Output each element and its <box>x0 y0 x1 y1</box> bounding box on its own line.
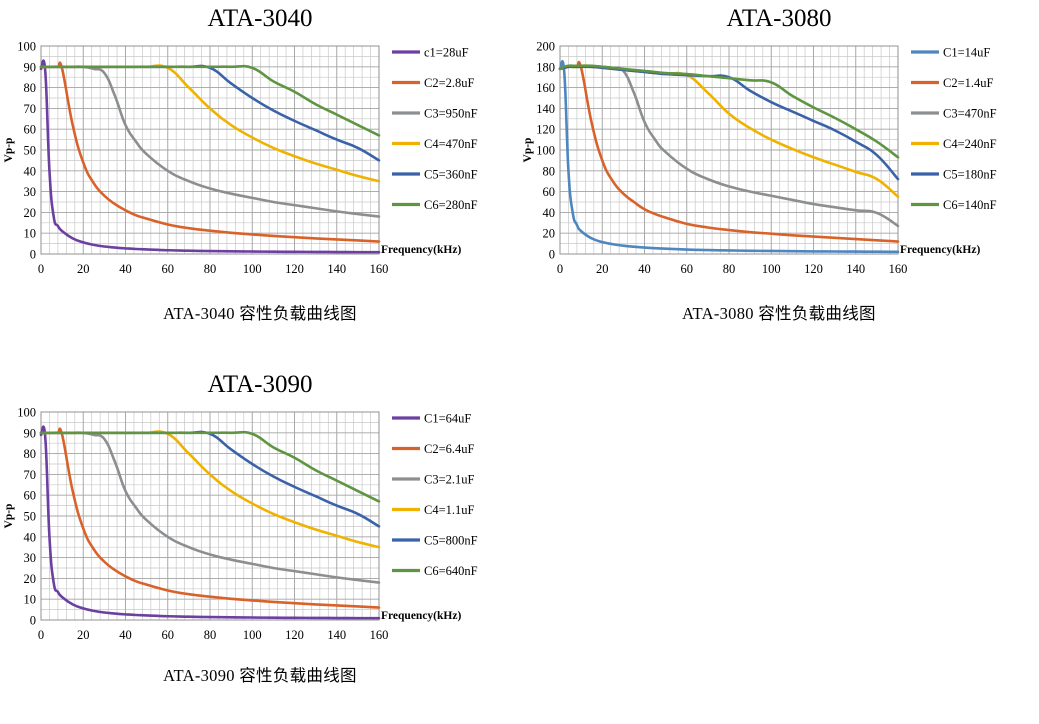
x-tick-label: 100 <box>243 262 262 276</box>
x-tick-label: 120 <box>285 262 304 276</box>
y-tick-label: 20 <box>24 206 37 220</box>
y-axis-label: Vp-p <box>3 138 15 163</box>
x-tick-label: 140 <box>327 262 346 276</box>
legend-label-3: C3=470nF <box>943 107 997 121</box>
chart-card-ata-3090: ATA-3090 0102030405060708090100020406080… <box>0 362 520 724</box>
legend-label-2: C2=1.4uF <box>943 76 994 90</box>
x-tick-label: 140 <box>846 262 865 276</box>
y-axis-label: Vp-p <box>522 138 534 163</box>
x-tick-label: 60 <box>162 628 175 642</box>
legend-label-5: C5=360nF <box>424 168 478 182</box>
legend-label-2: C2=2.8uF <box>424 76 475 90</box>
chart-card-ata-3040: ATA-3040 0102030405060708090100020406080… <box>0 0 520 362</box>
x-axis-label: Frequency(kHz) <box>381 244 461 256</box>
y-tick-label: 40 <box>24 530 37 544</box>
legend-label-4: C4=240nF <box>943 137 997 151</box>
legend-label-5: C5=800nF <box>424 534 478 548</box>
y-axis-ticks: 020406080100120140160180200 <box>536 40 555 262</box>
y-tick-label: 100 <box>17 40 36 54</box>
y-tick-label: 160 <box>536 81 555 95</box>
x-tick-label: 120 <box>804 262 823 276</box>
legend-label-6: C6=140nF <box>943 198 997 212</box>
x-tick-label: 140 <box>327 628 346 642</box>
y-tick-label: 20 <box>24 572 37 586</box>
chart-caption: ATA-3080 容性负载曲线图 <box>519 294 1039 324</box>
chart-svg: 0102030405060708090100020406080100120140… <box>0 36 520 294</box>
legend-label-3: C3=950nF <box>424 107 478 121</box>
x-tick-label: 80 <box>723 262 736 276</box>
chart-title: ATA-3040 <box>0 0 520 36</box>
chart-plot-area: 0102030405060708090100020406080100120140… <box>0 402 520 656</box>
chart-plot-area: 0102030405060708090100020406080100120140… <box>0 36 520 294</box>
y-tick-label: 80 <box>24 447 37 461</box>
x-axis-ticks: 020406080100120140160 <box>38 262 389 276</box>
y-tick-label: 80 <box>24 81 37 95</box>
y-tick-label: 60 <box>24 123 37 137</box>
x-tick-label: 20 <box>77 628 90 642</box>
y-tick-label: 30 <box>24 185 37 199</box>
x-tick-label: 0 <box>38 628 44 642</box>
x-tick-label: 80 <box>204 628 217 642</box>
y-tick-label: 50 <box>24 144 37 158</box>
x-tick-label: 20 <box>596 262 609 276</box>
x-tick-label: 160 <box>370 628 389 642</box>
chart-svg: 0102030405060708090100020406080100120140… <box>0 402 520 656</box>
y-tick-label: 0 <box>30 248 36 262</box>
x-tick-label: 160 <box>370 262 389 276</box>
y-tick-label: 70 <box>24 102 37 116</box>
x-axis-ticks: 020406080100120140160 <box>557 262 908 276</box>
x-tick-label: 100 <box>243 628 262 642</box>
x-tick-label: 60 <box>681 262 694 276</box>
x-tick-label: 40 <box>119 628 132 642</box>
x-tick-label: 0 <box>557 262 563 276</box>
y-tick-label: 40 <box>543 206 556 220</box>
x-tick-label: 40 <box>119 262 132 276</box>
y-tick-label: 50 <box>24 510 37 524</box>
legend-label-2: C2=6.4uF <box>424 442 475 456</box>
x-tick-label: 160 <box>889 262 908 276</box>
y-tick-label: 60 <box>24 489 37 503</box>
y-tick-label: 0 <box>30 614 36 628</box>
y-tick-label: 90 <box>24 426 37 440</box>
chart-card-ata-3080: ATA-3080 0204060801001201401601802000204… <box>519 0 1039 362</box>
y-tick-label: 120 <box>536 123 555 137</box>
chart-plot-area: 0204060801001201401601802000204060801001… <box>519 36 1039 294</box>
y-tick-label: 10 <box>24 227 37 241</box>
y-tick-label: 40 <box>24 164 37 178</box>
y-tick-label: 20 <box>543 227 556 241</box>
y-tick-label: 70 <box>24 468 37 482</box>
y-tick-label: 10 <box>24 593 37 607</box>
legend-label-1: c1=28uF <box>424 46 469 60</box>
legend-label-1: C1=64uF <box>424 412 471 426</box>
y-tick-label: 180 <box>536 60 555 74</box>
x-tick-label: 20 <box>77 262 90 276</box>
chart-caption: ATA-3090 容性负载曲线图 <box>0 656 520 686</box>
y-tick-label: 60 <box>543 185 556 199</box>
x-tick-label: 0 <box>38 262 44 276</box>
legend-label-6: C6=280nF <box>424 198 478 212</box>
y-axis-ticks: 0102030405060708090100 <box>17 406 36 628</box>
x-tick-label: 120 <box>285 628 304 642</box>
y-tick-label: 30 <box>24 551 37 565</box>
x-tick-label: 40 <box>638 262 651 276</box>
x-tick-label: 100 <box>762 262 781 276</box>
chart-title: ATA-3090 <box>0 362 520 402</box>
y-axis-label: Vp-p <box>3 504 15 529</box>
y-tick-label: 0 <box>549 248 555 262</box>
legend: C1=64uFC2=6.4uFC3=2.1uFC4=1.1uFC5=800nFC… <box>392 412 478 579</box>
y-axis-ticks: 0102030405060708090100 <box>17 40 36 262</box>
y-tick-label: 80 <box>543 164 556 178</box>
chart-caption: ATA-3040 容性负载曲线图 <box>0 294 520 324</box>
y-tick-label: 100 <box>17 406 36 420</box>
x-tick-label: 60 <box>162 262 175 276</box>
legend-label-4: C4=1.1uF <box>424 503 475 517</box>
legend: C1=14uFC2=1.4uFC3=470nFC4=240nFC5=180nFC… <box>911 46 997 213</box>
legend-label-1: C1=14uF <box>943 46 990 60</box>
legend-label-3: C3=2.1uF <box>424 473 475 487</box>
x-tick-label: 80 <box>204 262 217 276</box>
legend-label-5: C5=180nF <box>943 168 997 182</box>
x-axis-ticks: 020406080100120140160 <box>38 628 389 642</box>
legend: c1=28uFC2=2.8uFC3=950nFC4=470nFC5=360nFC… <box>392 46 478 213</box>
chart-title: ATA-3080 <box>519 0 1039 36</box>
y-tick-label: 200 <box>536 40 555 54</box>
legend-label-6: C6=640nF <box>424 564 478 578</box>
y-tick-label: 90 <box>24 60 37 74</box>
chart-svg: 0204060801001201401601802000204060801001… <box>519 36 1039 294</box>
y-tick-label: 100 <box>536 144 555 158</box>
legend-label-4: C4=470nF <box>424 137 478 151</box>
x-axis-label: Frequency(kHz) <box>900 244 980 256</box>
x-axis-label: Frequency(kHz) <box>381 610 461 622</box>
y-tick-label: 140 <box>536 102 555 116</box>
